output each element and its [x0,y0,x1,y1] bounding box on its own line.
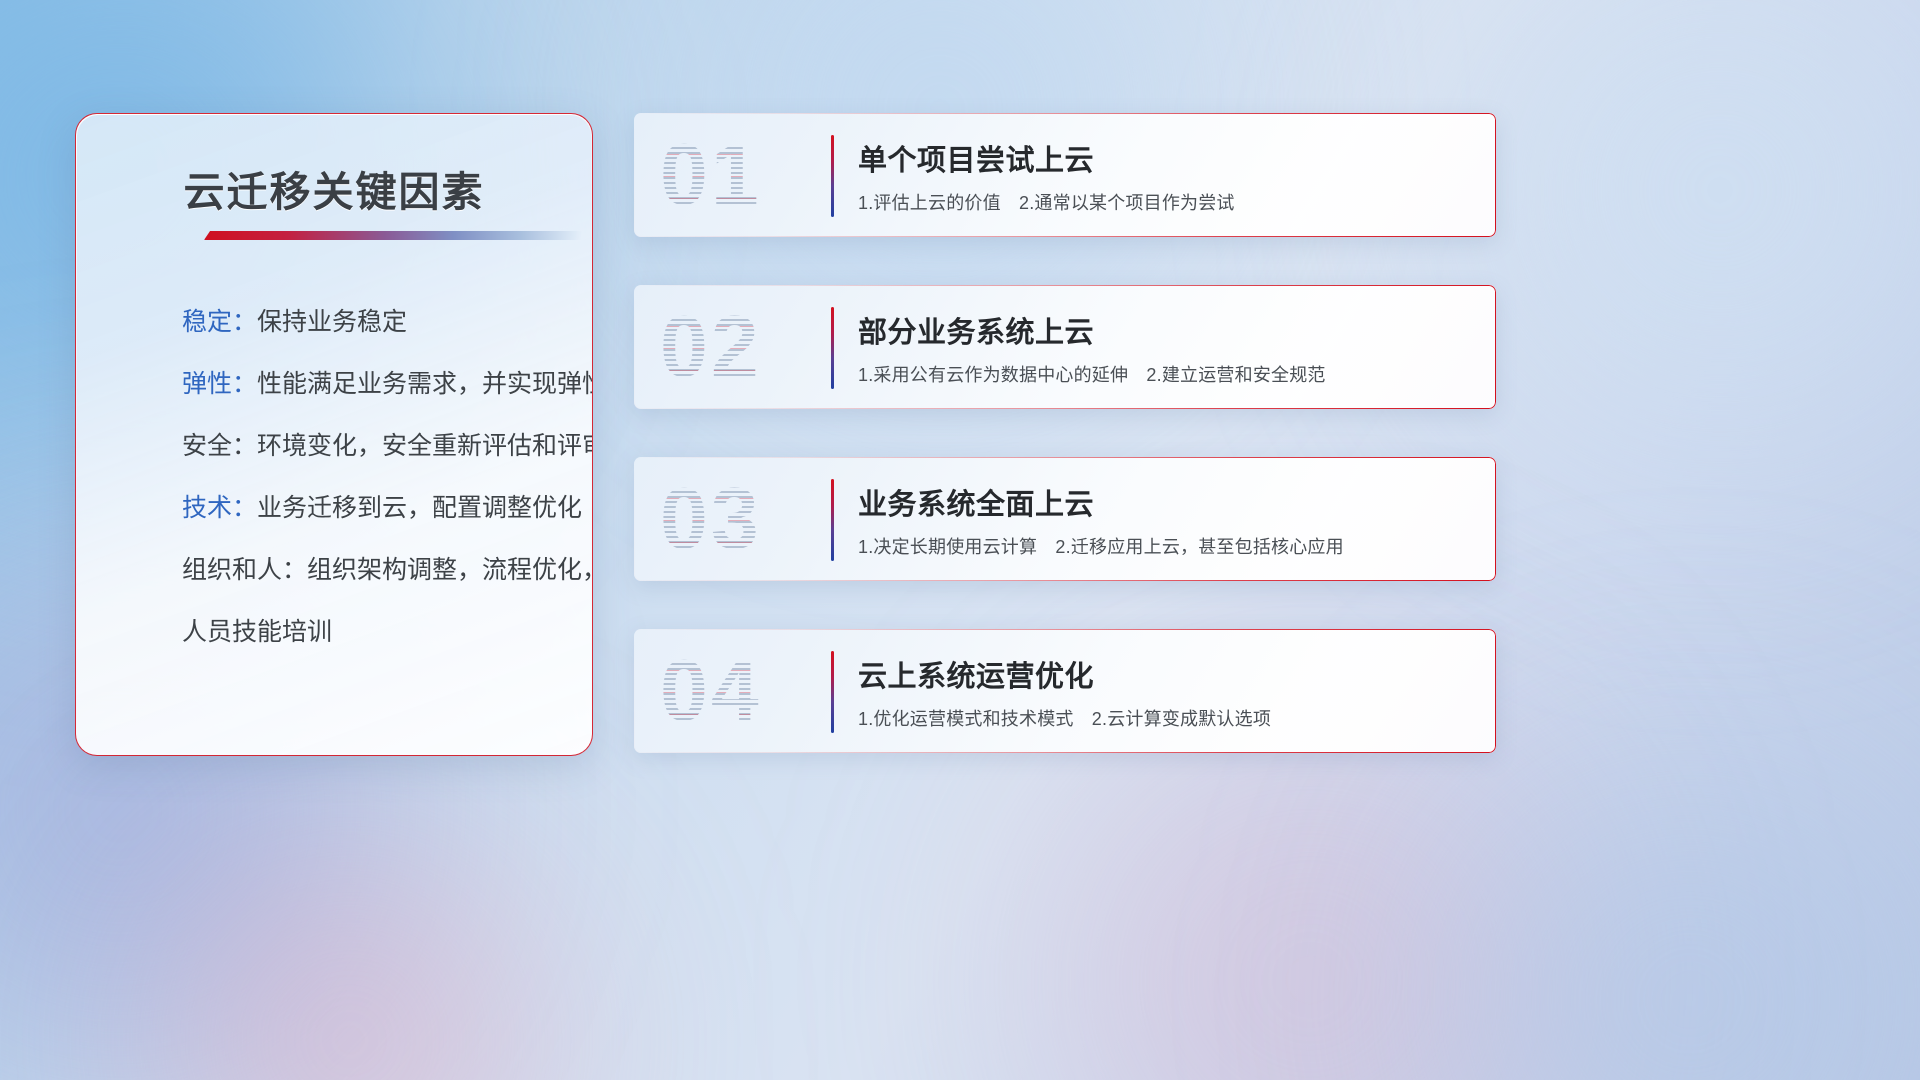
key-factors-panel: 云迁移关键因素 稳定：保持业务稳定 弹性：性能满足业务需求，并实现弹性 安全：环… [75,113,593,756]
factor-value: 性能满足业务需求，并实现弹性 [257,370,593,398]
step-card-01[interactable]: 01 01 单个项目尝试上云 1.评估上云的价值 2.通常以某个项目作为尝试 [634,113,1496,237]
factor-key: 稳定： [182,308,257,336]
factor-key: 技术： [182,494,257,522]
factor-value: 环境变化，安全重新评估和评审 [257,432,593,460]
step-subtitle: 1.决定长期使用云计算 2.迁移应用上云，甚至包括核心应用 [858,533,1344,559]
factor-value: 人员技能培训 [182,618,332,646]
accent-bar [831,479,834,561]
step-subtitle: 1.优化运营模式和技术模式 2.云计算变成默认选项 [858,705,1271,731]
factor-item-organization: 组织和人：组织架构调整，流程优化， [182,558,558,583]
factor-key: 弹性： [182,370,257,398]
factor-value: 保持业务稳定 [257,308,407,336]
accent-bar [831,135,834,217]
factor-item-security: 安全：环境变化，安全重新评估和评审 [182,434,558,459]
step-number-watermark: 04 [660,648,762,734]
factor-list: 稳定：保持业务稳定 弹性：性能满足业务需求，并实现弹性 安全：环境变化，安全重新… [182,310,558,645]
step-number-watermark: 02 [660,304,762,390]
factor-item-elasticity: 弹性：性能满足业务需求，并实现弹性 [182,372,558,397]
step-title: 单个项目尝试上云 [858,137,1094,179]
factor-item-technology: 技术：业务迁移到云，配置调整优化 [182,496,558,521]
step-card-02[interactable]: 02 02 部分业务系统上云 1.采用公有云作为数据中心的延伸 2.建立运营和安… [634,285,1496,409]
step-title: 部分业务系统上云 [858,309,1094,351]
title-underline-rule [204,231,582,240]
factor-key: 安全： [182,432,257,460]
panel-title: 云迁移关键因素 [76,158,592,218]
step-card-03[interactable]: 03 03 业务系统全面上云 1.决定长期使用云计算 2.迁移应用上云，甚至包括… [634,457,1496,581]
accent-bar [831,651,834,733]
factor-value: 组织架构调整，流程优化， [307,556,593,584]
factor-key: 组织和人： [182,556,307,584]
step-title: 云上系统运营优化 [858,653,1094,695]
step-subtitle: 1.采用公有云作为数据中心的延伸 2.建立运营和安全规范 [858,361,1326,387]
accent-bar [831,307,834,389]
step-number-watermark: 01 [660,132,762,218]
slide-stage: 云迁移关键因素 稳定：保持业务稳定 弹性：性能满足业务需求，并实现弹性 安全：环… [0,0,1920,1080]
factor-value: 业务迁移到云，配置调整优化 [257,494,582,522]
step-number-watermark: 03 [660,476,762,562]
step-subtitle: 1.评估上云的价值 2.通常以某个项目作为尝试 [858,189,1235,215]
step-card-04[interactable]: 04 04 云上系统运营优化 1.优化运营模式和技术模式 2.云计算变成默认选项 [634,629,1496,753]
factor-item-stability: 稳定：保持业务稳定 [182,310,558,335]
factor-item-organization-cont: 人员技能培训 [182,620,558,645]
step-title: 业务系统全面上云 [858,481,1094,523]
